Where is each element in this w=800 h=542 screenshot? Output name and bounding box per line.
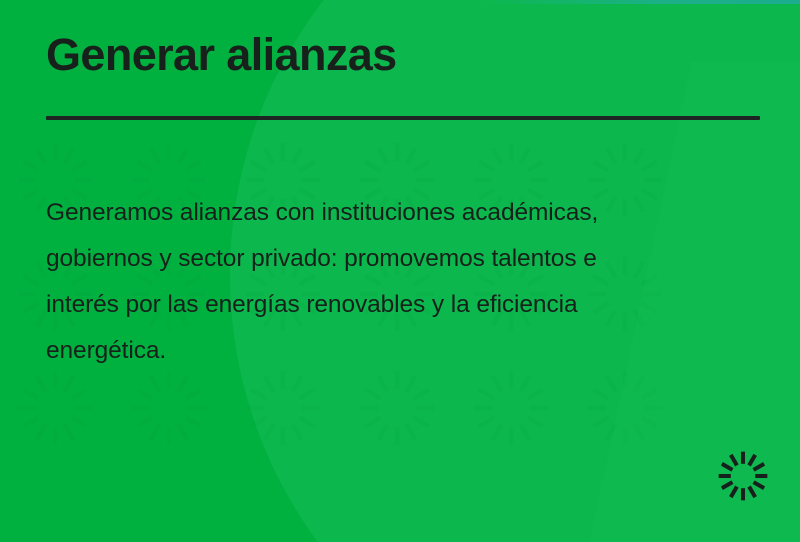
body-line: energética. <box>46 328 776 374</box>
page-title: Generar alianzas <box>46 28 397 83</box>
body-paragraph: Generamos alianzas con instituciones aca… <box>46 190 776 374</box>
starburst-watermark-icon <box>354 365 440 451</box>
starburst-watermark-icon <box>240 365 326 451</box>
top-edge-tint <box>480 0 800 4</box>
starburst-icon <box>714 447 772 505</box>
title-divider <box>46 116 760 120</box>
body-line: Generamos alianzas con instituciones aca… <box>46 190 776 236</box>
body-line: interés por las energías renovables y la… <box>46 282 776 328</box>
slide-card: Generar alianzas Generamos alianzas con … <box>0 0 800 542</box>
starburst-watermark-icon <box>12 365 98 451</box>
starburst-watermark-icon <box>468 365 554 451</box>
body-line: gobiernos y sector privado: promovemos t… <box>46 236 776 282</box>
starburst-watermark-icon <box>582 365 668 451</box>
starburst-watermark-icon <box>126 365 212 451</box>
